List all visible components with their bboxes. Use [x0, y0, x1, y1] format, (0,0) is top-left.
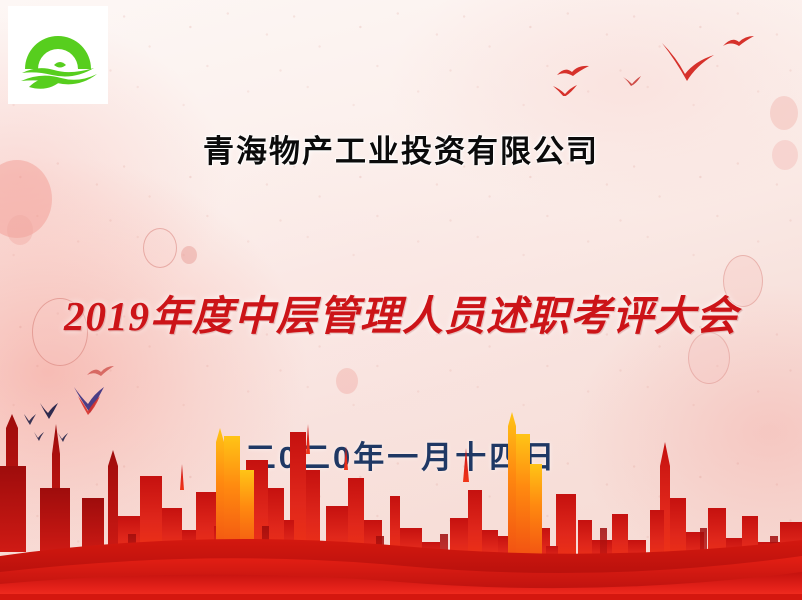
presentation-slide: 青海物产工业投资有限公司 2019年度中层管理人员述职考评大会 二0二0年一月十…	[0, 0, 802, 600]
city-skyline-graphic	[0, 370, 802, 600]
bubble-decoration	[770, 96, 798, 130]
bird-icon	[722, 35, 754, 60]
company-logo	[8, 6, 108, 104]
company-name: 青海物产工业投资有限公司	[0, 126, 802, 171]
bird-icon	[552, 82, 578, 101]
bubble-decoration	[7, 215, 33, 245]
bubble-decoration	[143, 228, 177, 268]
meeting-title: 2019年度中层管理人员述职考评大会	[0, 282, 802, 342]
bird-icon	[660, 40, 716, 87]
bird-icon	[622, 73, 642, 91]
bubble-decoration	[181, 246, 197, 264]
